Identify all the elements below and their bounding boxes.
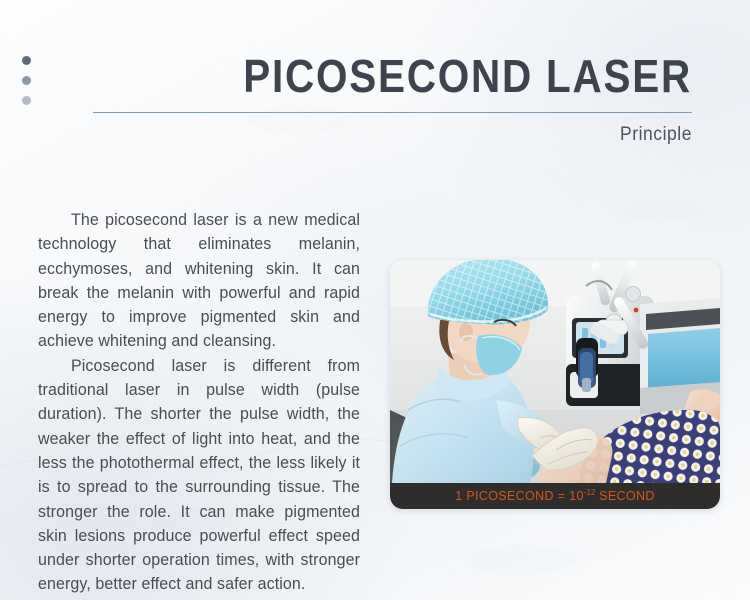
bullet-dot-1-icon <box>22 56 31 65</box>
treatment-photo <box>390 260 720 483</box>
header: PICOSECOND LASER Principle <box>90 50 692 146</box>
paragraph-1: The picosecond laser is a new medical te… <box>38 208 360 354</box>
page-subtitle: Principle <box>138 113 692 146</box>
figure-card: 1 PICOSECOND = 10-12 SECOND <box>390 260 720 509</box>
bullet-dot-2-icon <box>22 76 31 85</box>
figure-caption-bar: 1 PICOSECOND = 10-12 SECOND <box>390 483 720 509</box>
slide-canvas: PICOSECOND LASER Principle The picosecon… <box>0 0 750 600</box>
caption-suffix: SECOND <box>595 490 654 504</box>
page-title: PICOSECOND LASER <box>162 50 692 102</box>
body-copy: The picosecond laser is a new medical te… <box>38 208 370 597</box>
caption-exponent: -12 <box>584 488 596 497</box>
caption-prefix: 1 PICOSECOND = 10 <box>455 490 584 504</box>
paragraph-2: Picosecond laser is different from tradi… <box>38 354 360 597</box>
figure-caption: 1 PICOSECOND = 10-12 SECOND <box>455 488 655 503</box>
decorative-dots <box>22 56 38 116</box>
bullet-dot-3-icon <box>22 96 31 105</box>
